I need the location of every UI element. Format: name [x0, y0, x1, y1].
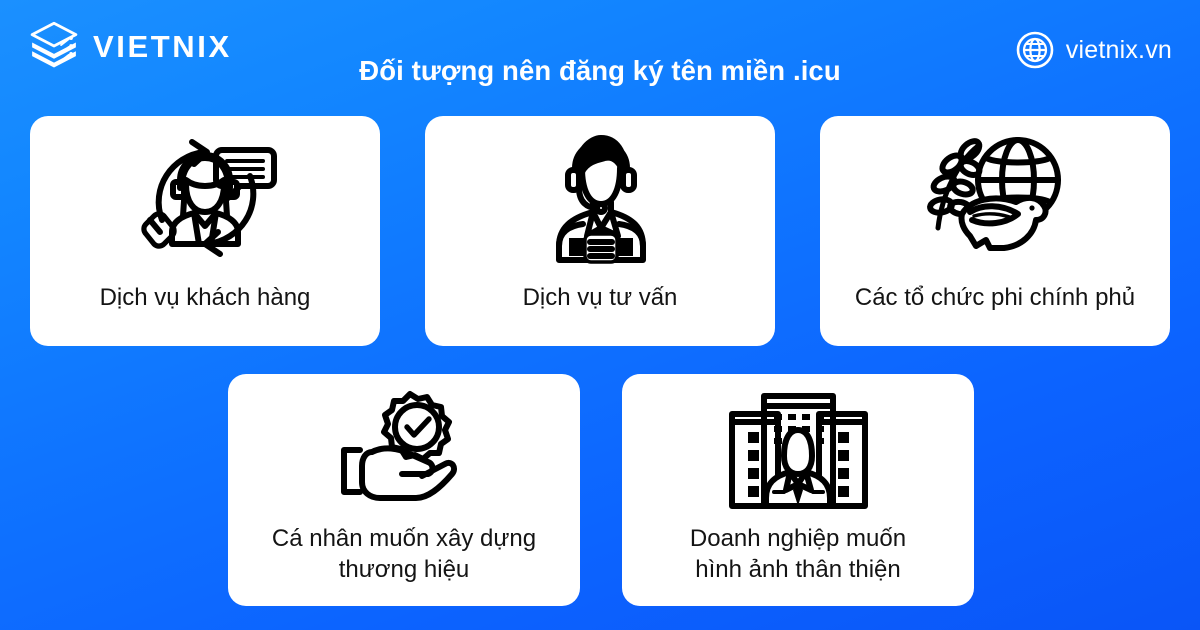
icon-container — [726, 388, 871, 513]
icon-container — [324, 388, 484, 513]
card-personal-branding[interactable]: Cá nhân muốn xây dựng thương hiệu — [228, 374, 580, 606]
card-label: Cá nhân muốn xây dựng thương hiệu — [262, 523, 546, 585]
icon-container — [525, 128, 675, 268]
card-customer-service[interactable]: Dịch vụ khách hàng — [30, 116, 380, 346]
site-url-label: vietnix.vn — [1066, 38, 1172, 63]
card-ngo-organizations[interactable]: Các tổ chức phi chính phủ — [820, 116, 1170, 346]
globe-dove-olive-branch-icon — [908, 128, 1083, 268]
infographic-canvas: VIETNIX Đối tượng nên đăng ký tên miền .… — [0, 0, 1200, 630]
card-label: Dịch vụ tư vấn — [513, 282, 688, 313]
card-label: Dịch vụ khách hàng — [90, 282, 321, 313]
card-business-friendly-image[interactable]: Doanh nghiệp muốn hình ảnh thân thiện — [622, 374, 974, 606]
site-brand[interactable]: vietnix.vn — [1015, 30, 1172, 70]
card-label: Doanh nghiệp muốn hình ảnh thân thiện — [680, 523, 916, 585]
card-consulting-service[interactable]: Dịch vụ tư vấn — [425, 116, 775, 346]
office-buildings-businessman-icon — [726, 388, 871, 513]
consultant-headset-icon — [525, 128, 675, 268]
customer-support-agent-icon — [110, 128, 300, 268]
icon-container — [110, 128, 300, 268]
card-label: Các tổ chức phi chính phủ — [845, 282, 1145, 313]
icon-container — [908, 128, 1083, 268]
globe-icon — [1015, 30, 1055, 70]
hand-holding-verified-badge-icon — [324, 388, 484, 513]
